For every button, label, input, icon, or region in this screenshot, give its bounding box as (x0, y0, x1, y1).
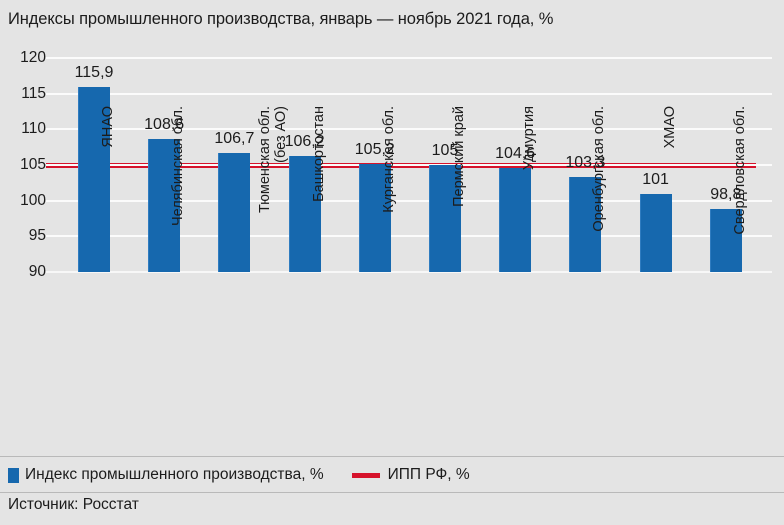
legend-divider (0, 456, 784, 457)
bar-value-label: 98,8 (686, 186, 766, 204)
x-axis-category-label: Башкортостан (311, 106, 327, 276)
x-axis-label-line: (без АО) (273, 106, 289, 276)
y-axis-tick-label: 120 (6, 49, 46, 67)
x-axis-category-label: Удмуртия (521, 106, 537, 276)
x-axis-category-label: Челябинская обл. (170, 106, 186, 276)
bar-value-label: 103,3 (545, 154, 625, 172)
legend-swatch-line-icon (352, 473, 380, 478)
bar[interactable] (218, 153, 250, 272)
gridline (46, 93, 772, 95)
y-axis-tick-label: 115 (6, 85, 46, 103)
bar-value-label: 106,2 (265, 133, 345, 151)
gridline (46, 57, 772, 59)
x-axis-category-label: Курганская обл. (381, 106, 397, 276)
y-axis-tick-label: 110 (6, 120, 46, 138)
legend-label-bar-series: Индекс промышленного производства, % (25, 466, 324, 484)
x-axis-category-label: Пермский край (451, 106, 467, 276)
x-axis-category-label: ЯНАО (100, 106, 116, 276)
legend-item-bar-series[interactable]: Индекс промышленного производства, % (8, 466, 324, 484)
x-axis-label-line: Тюменская обл. (257, 106, 273, 276)
y-axis-tick-label: 100 (6, 192, 46, 210)
page-title: Индексы промышленного производства, янва… (8, 4, 768, 34)
source-note: Источник: Росстат (8, 496, 139, 514)
bar-value-label: 105,2 (335, 141, 415, 159)
bar-value-label: 101 (616, 171, 696, 189)
y-axis-tick-label: 105 (6, 156, 46, 174)
legend-swatch-square-icon (8, 468, 19, 483)
x-axis-category-label: Тюменская обл.(без АО) (257, 106, 289, 276)
bar-value-label: 104,6 (475, 145, 555, 163)
y-axis-tick-label: 95 (6, 227, 46, 245)
chart-page: Индексы промышленного производства, янва… (0, 0, 784, 525)
bar-value-label: 105 (405, 142, 485, 160)
bar-value-label: 108,6 (124, 116, 204, 134)
source-divider (0, 492, 784, 493)
legend-label-reference-line: ИПП РФ, % (388, 466, 470, 484)
legend-item-reference-line[interactable]: ИПП РФ, % (352, 466, 470, 484)
x-axis-category-label: Оренбургская обл. (591, 106, 607, 276)
chart-legend: Индекс промышленного производства, % ИПП… (8, 462, 470, 488)
plot-area: 1201151101051009590115,9ЯНАО108,6Челябин… (0, 44, 784, 444)
x-axis-category-label: ХМАО (662, 106, 678, 276)
bar-value-label: 115,9 (54, 64, 134, 82)
x-axis-category-label: Свердловская обл. (732, 106, 748, 276)
y-axis-tick-label: 90 (6, 263, 46, 281)
